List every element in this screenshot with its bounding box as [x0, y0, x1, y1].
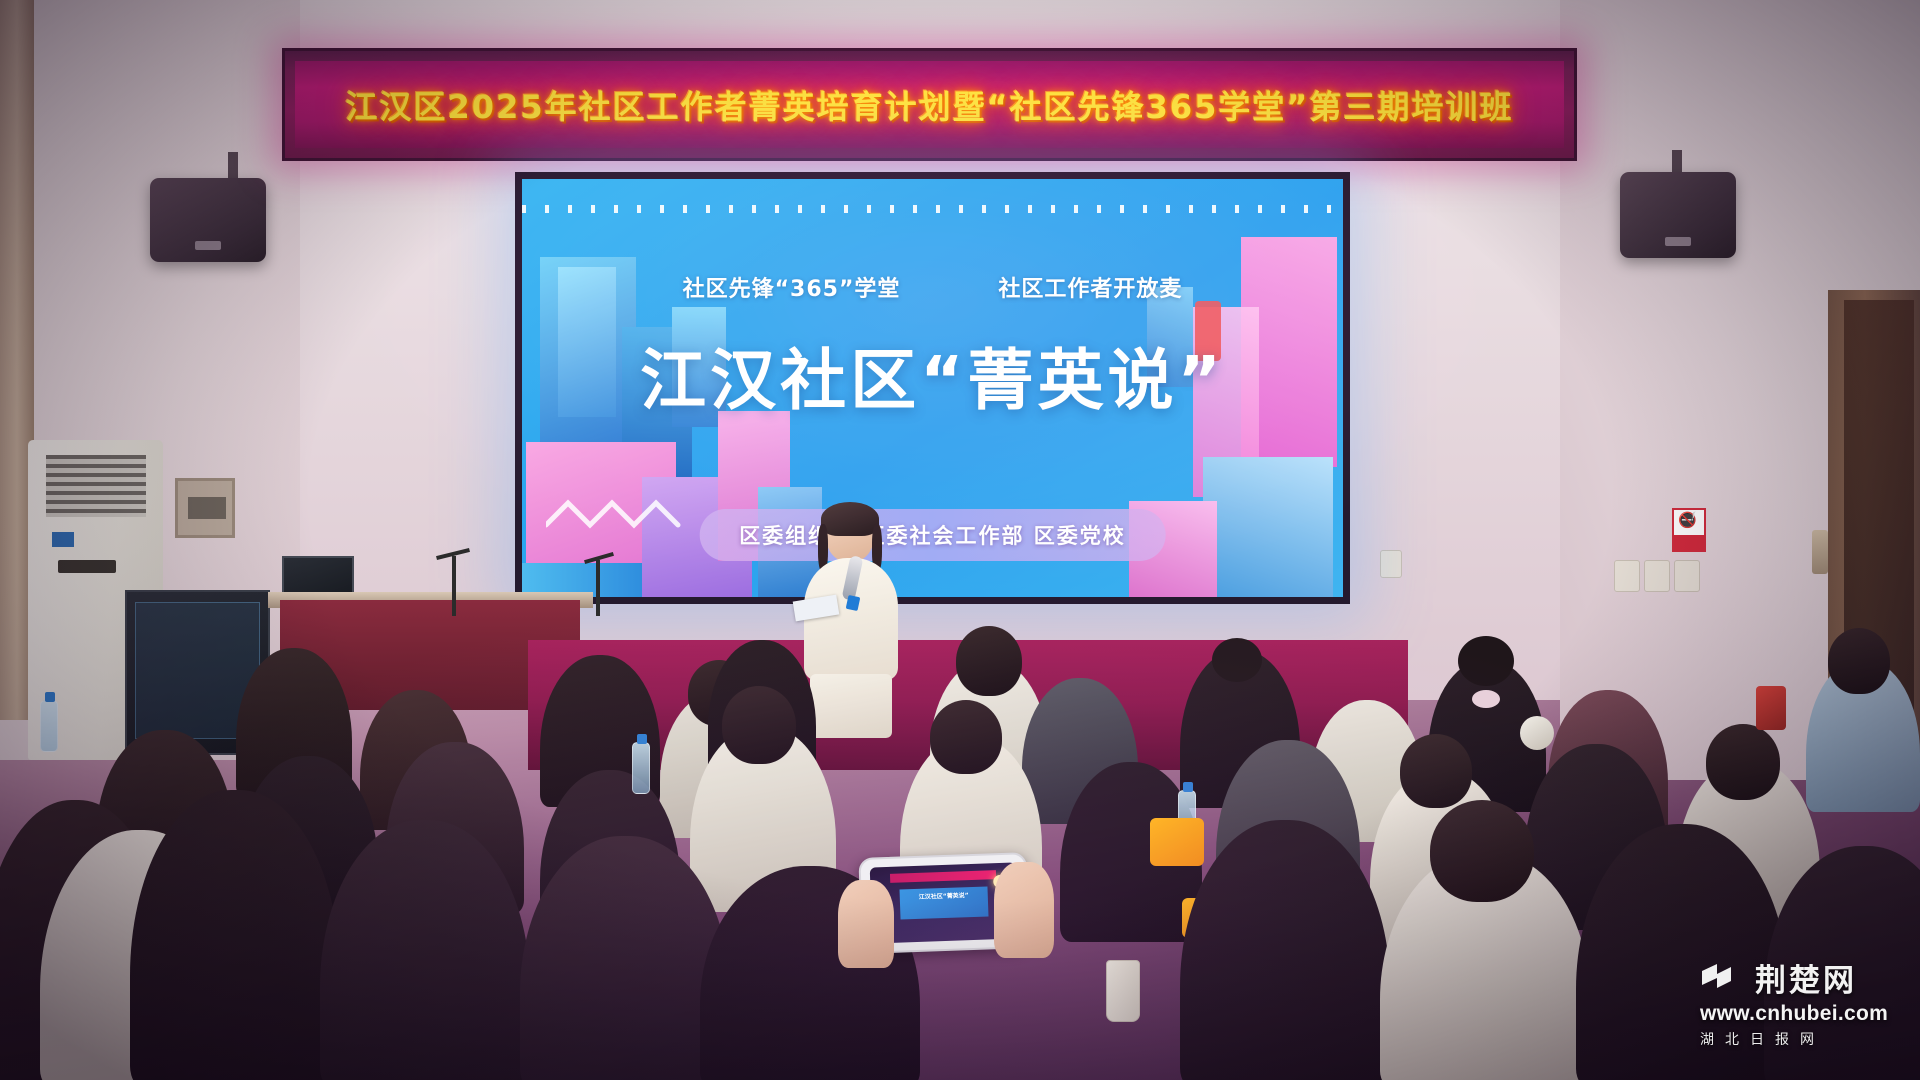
- led-banner-inner: 江汉区2025年社区工作者菁英培育计划暨“社区先锋365学堂”第三期培训班: [295, 61, 1564, 148]
- microphone-stand: [452, 556, 456, 616]
- air-conditioner-display: [58, 560, 116, 573]
- screen-subtitle-right: 社区工作者开放麦: [998, 271, 1182, 303]
- speaker-badge: [1665, 237, 1691, 246]
- zigzag-motif: [546, 495, 696, 535]
- air-conditioner-label: [52, 532, 74, 547]
- photo-scene: 江汉区2025年社区工作者菁英培育计划暨“社区先锋365学堂”第三期培训班: [0, 0, 1920, 1080]
- audience-head: [930, 700, 1002, 774]
- white-bowl: [1520, 716, 1554, 750]
- phone-led-banner: [890, 870, 995, 883]
- wall-speaker-right: [1620, 172, 1736, 258]
- watermark-url: www.cnhubei.com: [1700, 1002, 1910, 1026]
- soda-can: [1756, 686, 1786, 730]
- wall-control-panel[interactable]: [175, 478, 235, 538]
- screen-subtitle-left: 社区先锋“365”学堂: [683, 271, 901, 303]
- air-conditioner-grill: [46, 455, 146, 517]
- led-banner: 江汉区2025年社区工作者菁英培育计划暨“社区先锋365学堂”第三期培训班: [282, 48, 1577, 161]
- presenter-hair: [821, 502, 879, 536]
- speaker-badge: [195, 241, 221, 250]
- screen-subtitles: 社区先锋“365”学堂 社区工作者开放麦: [522, 271, 1343, 303]
- led-banner-text: 江汉区2025年社区工作者菁英培育计划暨“社区先锋365学堂”第三期培训班: [346, 82, 1514, 128]
- screen-organizers: 区委组织部 区委社会工作部 区委党校: [699, 509, 1166, 561]
- power-outlet[interactable]: [1614, 560, 1640, 592]
- door-latch[interactable]: [1812, 530, 1828, 574]
- watermark: 荆楚网 www.cnhubei.com 湖北日报网: [1700, 955, 1910, 1049]
- watermark-subtitle: 湖北日报网: [1700, 1029, 1910, 1049]
- watermark-brand-row: 荆楚网: [1700, 955, 1910, 1000]
- hair-accessory: [1472, 690, 1500, 708]
- water-bottle: [40, 700, 58, 752]
- screen-dot-row: [522, 205, 1343, 213]
- watermark-brand: 荆楚网: [1755, 955, 1857, 1000]
- microphone-stand: [596, 560, 600, 616]
- hand-left: [838, 880, 894, 968]
- audience-head: [722, 686, 796, 764]
- audience-head: [1706, 724, 1780, 800]
- cnhubei-logo-icon: [1700, 961, 1746, 995]
- power-outlet[interactable]: [1674, 560, 1700, 592]
- audience-head: [1430, 800, 1534, 902]
- audience-head: [1828, 628, 1890, 694]
- screen-main-title: 江汉社区“菁英说”: [522, 327, 1343, 423]
- panel-window: [188, 497, 226, 519]
- wall-speaker-left: [150, 178, 266, 262]
- audience-head: [956, 626, 1022, 696]
- water-bottle: [632, 742, 650, 794]
- tumbler-cup: [1106, 960, 1140, 1022]
- hand-right: [994, 862, 1054, 958]
- power-outlet[interactable]: [1380, 550, 1402, 578]
- projection-screen-content: 社区先锋“365”学堂 社区工作者开放麦 江汉社区“菁英说” 区委组织部 区委社…: [522, 179, 1343, 597]
- audience-head: [1400, 734, 1472, 808]
- audience-hair-bun: [1212, 638, 1262, 682]
- power-outlet[interactable]: [1644, 560, 1670, 592]
- audience-hair-bun: [1458, 636, 1514, 686]
- no-smoking-icon: [1672, 508, 1706, 552]
- presenter-skirt: [810, 674, 892, 738]
- snack-bag: [1150, 818, 1204, 866]
- projection-screen: 社区先锋“365”学堂 社区工作者开放麦 江汉社区“菁英说” 区委组织部 区委社…: [515, 172, 1350, 604]
